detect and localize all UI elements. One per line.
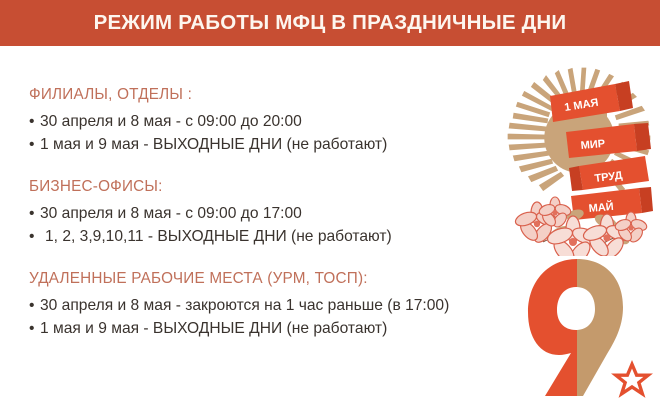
schedule-content: ФИЛИАЛЫ, ОТДЕЛЫ : • 30 апреля и 8 мая - … [29, 86, 507, 340]
section-heading: УДАЛЕННЫЕ РАБОЧИЕ МЕСТА (УРМ, ТОСП): [29, 270, 507, 288]
bullet-icon: • [29, 317, 40, 340]
bullet-icon: • [29, 133, 40, 156]
list-item-text: 1 мая и 9 мая - ВЫХОДНЫЕ ДНИ (не работаю… [40, 317, 387, 340]
section-business-offices: БИЗНЕС-ОФИСЫ: • 30 апреля и 8 мая - с 09… [29, 178, 507, 248]
holiday-schedule-poster: РЕЖИМ РАБОТЫ МФЦ В ПРАЗДНИЧНЫЕ ДНИ ФИЛИА… [0, 0, 660, 407]
victory-day-nine-icon [519, 256, 660, 402]
list-item: • 1, 2, 3,9,10,11 - ВЫХОДНЫЕ ДНИ (не раб… [29, 225, 507, 248]
list-item-text: 30 апреля и 8 мая - закроются на 1 час р… [40, 294, 449, 317]
bullet-icon: • [29, 225, 40, 248]
section-heading: БИЗНЕС-ОФИСЫ: [29, 178, 507, 196]
ribbon-label: МИР [580, 138, 605, 152]
ribbon-label: МАЙ [588, 200, 614, 215]
section-branches: ФИЛИАЛЫ, ОТДЕЛЫ : • 30 апреля и 8 мая - … [29, 86, 507, 156]
list-item-text: 1, 2, 3,9,10,11 - ВЫХОДНЫЕ ДНИ (не работ… [40, 225, 392, 248]
section-heading: ФИЛИАЛЫ, ОТДЕЛЫ : [29, 86, 507, 104]
list-item-text: 30 апреля и 8 мая - с 09:00 до 20:00 [40, 110, 302, 133]
section-remote-workplaces: УДАЛЕННЫЕ РАБОЧИЕ МЕСТА (УРМ, ТОСП): • 3… [29, 270, 507, 340]
list-item: • 30 апреля и 8 мая - с 09:00 до 17:00 [29, 202, 507, 225]
list-item: • 30 апреля и 8 мая - закроются на 1 час… [29, 294, 507, 317]
nine-digit [528, 259, 623, 396]
bullet-icon: • [29, 110, 40, 133]
list-item: • 30 апреля и 8 мая - с 09:00 до 20:00 [29, 110, 507, 133]
bullet-icon: • [29, 202, 40, 225]
list-item-text: 1 мая и 9 мая - ВЫХОДНЫЕ ДНИ (не работаю… [40, 133, 387, 156]
may-day-emblem-icon: 1 МАЯ МИР ТРУД МАЙ [503, 56, 655, 256]
bullet-icon: • [29, 294, 40, 317]
star-icon [616, 364, 648, 394]
header-banner: РЕЖИМ РАБОТЫ МФЦ В ПРАЗДНИЧНЫЕ ДНИ [0, 0, 660, 46]
page-title: РЕЖИМ РАБОТЫ МФЦ В ПРАЗДНИЧНЫЕ ДНИ [94, 11, 567, 35]
list-item: • 1 мая и 9 мая - ВЫХОДНЫЕ ДНИ (не работ… [29, 317, 507, 340]
list-item: • 1 мая и 9 мая - ВЫХОДНЫЕ ДНИ (не работ… [29, 133, 507, 156]
list-item-text: 30 апреля и 8 мая - с 09:00 до 17:00 [40, 202, 302, 225]
